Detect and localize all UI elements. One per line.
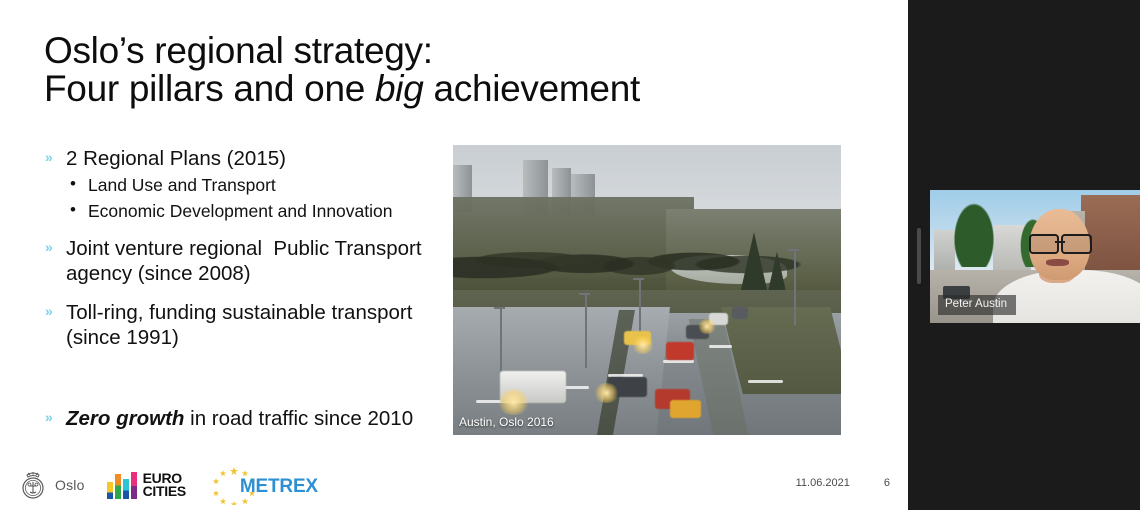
list-item-label: 2 Regional Plans (2015) [66, 146, 444, 171]
eurocities-line-2: CITIES [143, 485, 186, 498]
title-line-1: Oslo’s regional strategy: [44, 32, 874, 70]
title-emphasis: big [375, 68, 423, 109]
list-item-highlight: » Zero growth in road traffic since 2010 [44, 406, 444, 431]
photo-headlight [593, 383, 620, 403]
participant-mouth [1046, 259, 1069, 266]
photo-headlight [697, 319, 716, 334]
bullet-list: » 2 Regional Plans (2015) • Land Use and… [44, 146, 444, 438]
eurocities-bars-icon [107, 471, 137, 499]
oslo-logo: Oslo [18, 469, 85, 501]
list-item-label: Zero growth in road traffic since 2010 [66, 406, 444, 431]
photo-headlight [496, 389, 531, 415]
chevron-double-right-icon: » [45, 304, 58, 318]
video-background-tree [951, 198, 997, 267]
slide-page-number: 6 [884, 477, 890, 489]
participant-glasses-icon [1029, 234, 1092, 250]
eurocities-wordmark: EURO CITIES [143, 472, 186, 499]
photo-conifer [740, 232, 768, 294]
bullet-dot-icon: • [70, 199, 76, 221]
chevron-double-right-icon: » [45, 410, 58, 424]
highlight-emphasis: Zero growth [66, 407, 184, 430]
title-line-2-part-b: achievement [424, 68, 640, 109]
metrex-logo: METREX [208, 465, 308, 505]
page-title: Oslo’s regional strategy: Four pillars a… [44, 32, 874, 108]
participant-video-tile[interactable]: Peter Austin [930, 190, 1140, 323]
photo-lane-marking [709, 345, 732, 348]
photo-lane-marking [748, 380, 783, 383]
sub-list-item: • Land Use and Transport [66, 174, 444, 196]
metrex-wordmark: METREX [240, 476, 318, 498]
highlight-rest: in road traffic since 2010 [184, 407, 413, 430]
photo-vehicle [670, 400, 701, 417]
slide-date: 11.06.2021 [796, 477, 850, 489]
video-panel-scrollbar[interactable] [917, 228, 921, 284]
bullet-dot-icon: • [70, 173, 76, 195]
footer-meta: 11.06.2021 6 [796, 477, 890, 489]
chevron-double-right-icon: » [45, 240, 58, 254]
photo-lamppost [794, 249, 796, 324]
photo-lamppost [585, 293, 587, 368]
participant-name-label: Peter Austin [938, 295, 1016, 315]
video-background-building [1081, 195, 1140, 269]
list-item-label: Toll-ring, funding sustainable transport… [66, 300, 444, 350]
video-conference-panel: Peter Austin [908, 0, 1140, 510]
list-item: » 2 Regional Plans (2015) • Land Use and… [44, 146, 444, 222]
sub-bullet-list: • Land Use and Transport • Economic Deve… [66, 174, 444, 222]
list-item-label: Joint venture regional Public Transport … [66, 236, 444, 286]
oslo-wordmark: Oslo [55, 477, 85, 493]
photo-caption: Austin, Oslo 2016 [459, 415, 554, 429]
photo-vehicle [666, 342, 693, 359]
photo-headlight [631, 336, 654, 353]
photo-lane-marking [663, 360, 694, 363]
oslo-crest-icon [18, 469, 48, 501]
photo-vehicle [732, 307, 748, 319]
sub-list-item: • Economic Development and Innovation [66, 200, 444, 222]
list-item: » Toll-ring, funding sustainable transpo… [44, 300, 444, 350]
list-item: » Joint venture regional Public Transpor… [44, 236, 444, 286]
sub-list-item-label: Economic Development and Innovation [88, 201, 393, 221]
title-line-2-part-a: Four pillars and one [44, 68, 375, 109]
slide-footer: Oslo EURO CITIES [0, 455, 908, 510]
logo-row: Oslo EURO CITIES [18, 465, 308, 505]
eurocities-logo: EURO CITIES [107, 471, 186, 499]
photo-lamppost [500, 307, 502, 371]
title-line-2: Four pillars and one big achievement [44, 70, 874, 108]
chevron-double-right-icon: » [45, 150, 58, 164]
sub-list-item-label: Land Use and Transport [88, 175, 276, 195]
presentation-slide: Oslo’s regional strategy: Four pillars a… [0, 0, 908, 510]
slide-photo: Austin, Oslo 2016 [453, 145, 841, 435]
